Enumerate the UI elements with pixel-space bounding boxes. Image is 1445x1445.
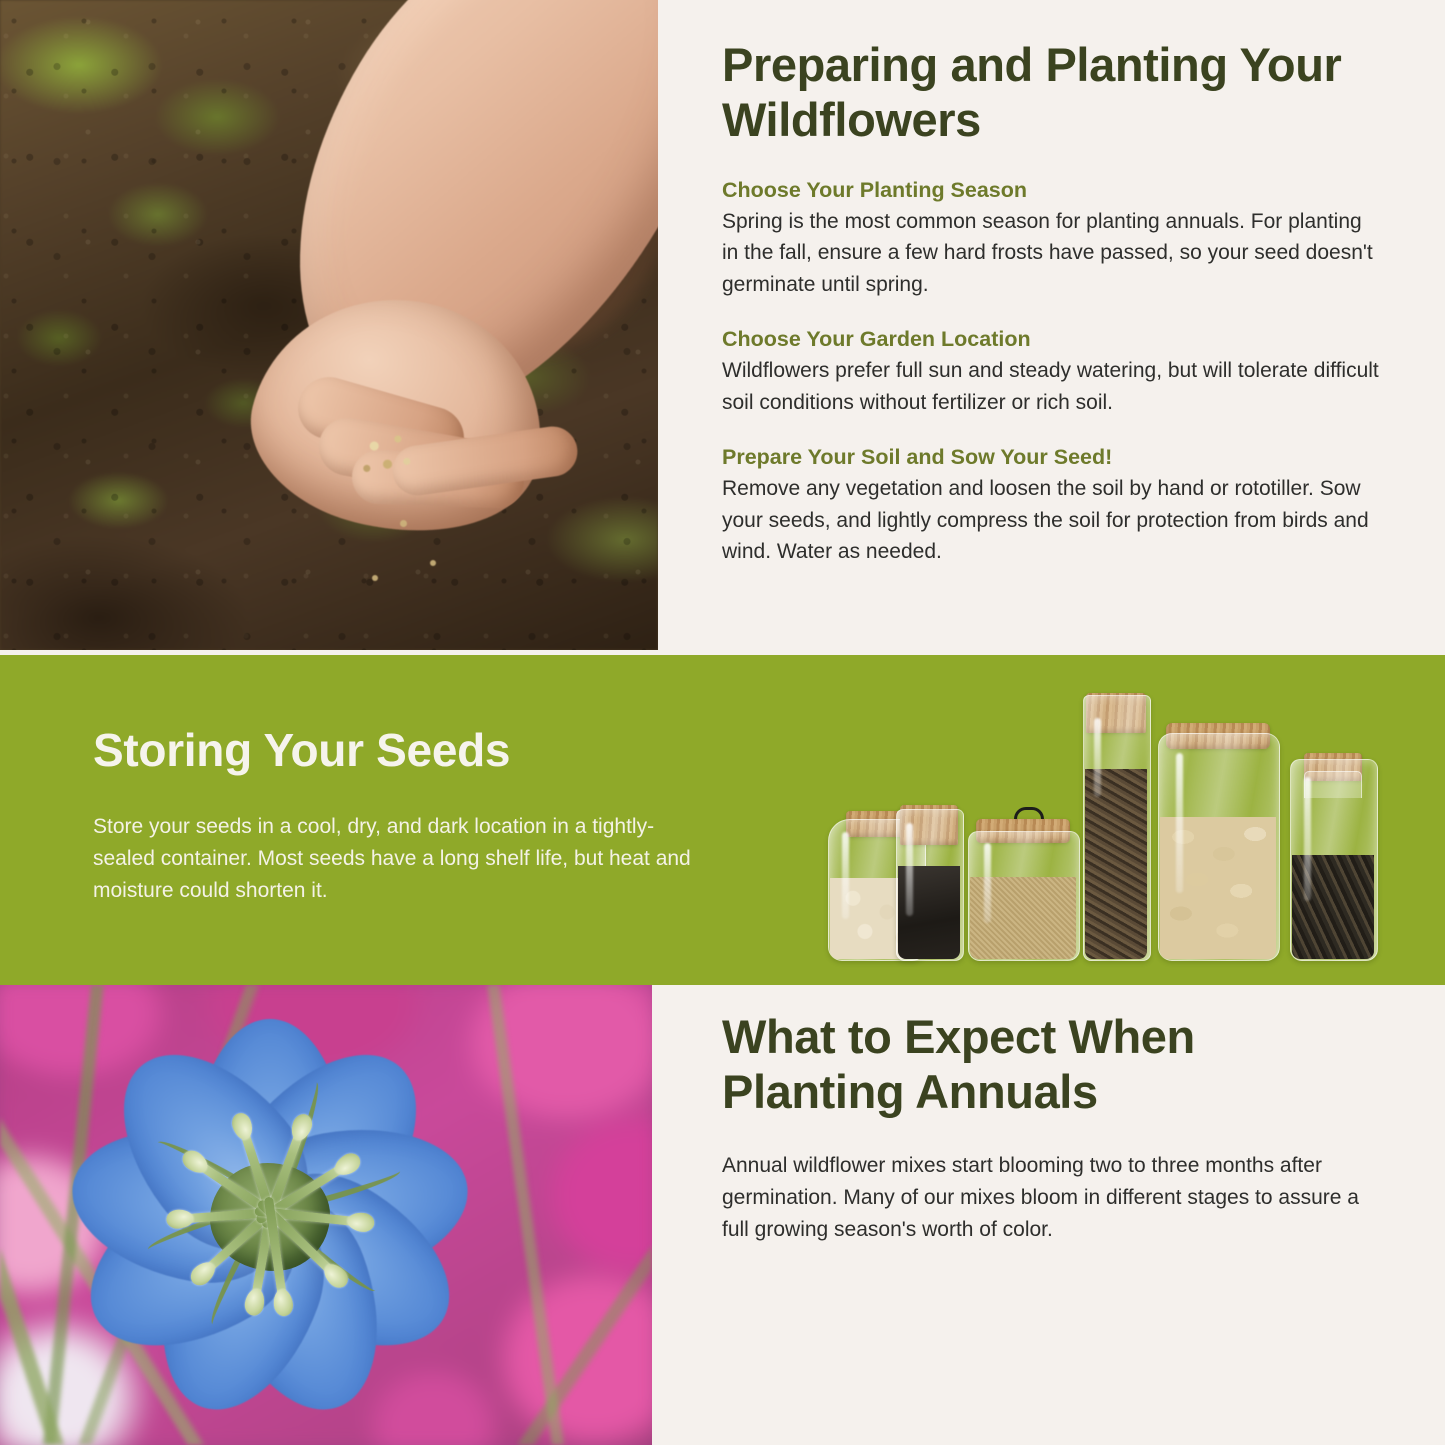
preparing-text-column: Preparing and Planting Your Wildflowers … (722, 38, 1382, 568)
photo-seed-jars (828, 669, 1388, 969)
annuals-body: Annual wildflower mixes start blooming t… (722, 1150, 1382, 1246)
jar-black-seed (896, 811, 962, 961)
annuals-heading: What to Expect When Planting Annuals (722, 1010, 1382, 1120)
jar-fine-tan-seed (968, 833, 1078, 961)
subheading-prepare-soil: Prepare Your Soil and Sow Your Seed! (722, 445, 1382, 470)
storing-body: Store your seeds in a cool, dry, and dar… (93, 811, 713, 907)
section-what-to-expect: What to Expect When Planting Annuals Ann… (0, 985, 1445, 1445)
glass-highlight (1094, 718, 1101, 797)
subheading-garden-location: Choose Your Garden Location (722, 327, 1382, 352)
jar-pumpkin-seeds (1158, 735, 1278, 961)
falling-seed (372, 575, 378, 581)
jar-tall-tube-dark-seed (1083, 697, 1149, 961)
falling-seed (400, 520, 407, 527)
nigella-bloom (20, 1003, 520, 1435)
annuals-text-column: What to Expect When Planting Annuals Ann… (722, 1010, 1382, 1246)
glass-highlight (906, 823, 913, 916)
glass-highlight (1304, 777, 1311, 901)
seeds-in-hand (352, 418, 426, 488)
seed-fill (1085, 769, 1147, 959)
section-storing-your-seeds: Storing Your Seeds Store your seeds in a… (0, 655, 1445, 985)
falling-seed (430, 560, 436, 566)
glass-highlight (842, 832, 849, 919)
jar-sunflower-seeds (1290, 761, 1376, 961)
storing-text-column: Storing Your Seeds Store your seeds in a… (93, 723, 713, 907)
infographic-page: Preparing and Planting Your Wildflowers … (0, 0, 1445, 1445)
page-title: Preparing and Planting Your Wildflowers (722, 38, 1382, 148)
body-garden-location: Wildflowers prefer full sun and steady w… (722, 355, 1382, 418)
photo-hand-sowing-seeds (0, 0, 658, 650)
photo-blue-nigella-flower (0, 985, 652, 1445)
storing-heading: Storing Your Seeds (93, 723, 713, 777)
body-planting-season: Spring is the most common season for pla… (722, 206, 1382, 301)
glass-highlight (1176, 753, 1183, 893)
glass-highlight (984, 843, 991, 922)
body-prepare-soil: Remove any vegetation and loosen the soi… (722, 473, 1382, 568)
subheading-planting-season: Choose Your Planting Season (722, 178, 1382, 203)
section-preparing-and-planting: Preparing and Planting Your Wildflowers … (0, 0, 1445, 655)
